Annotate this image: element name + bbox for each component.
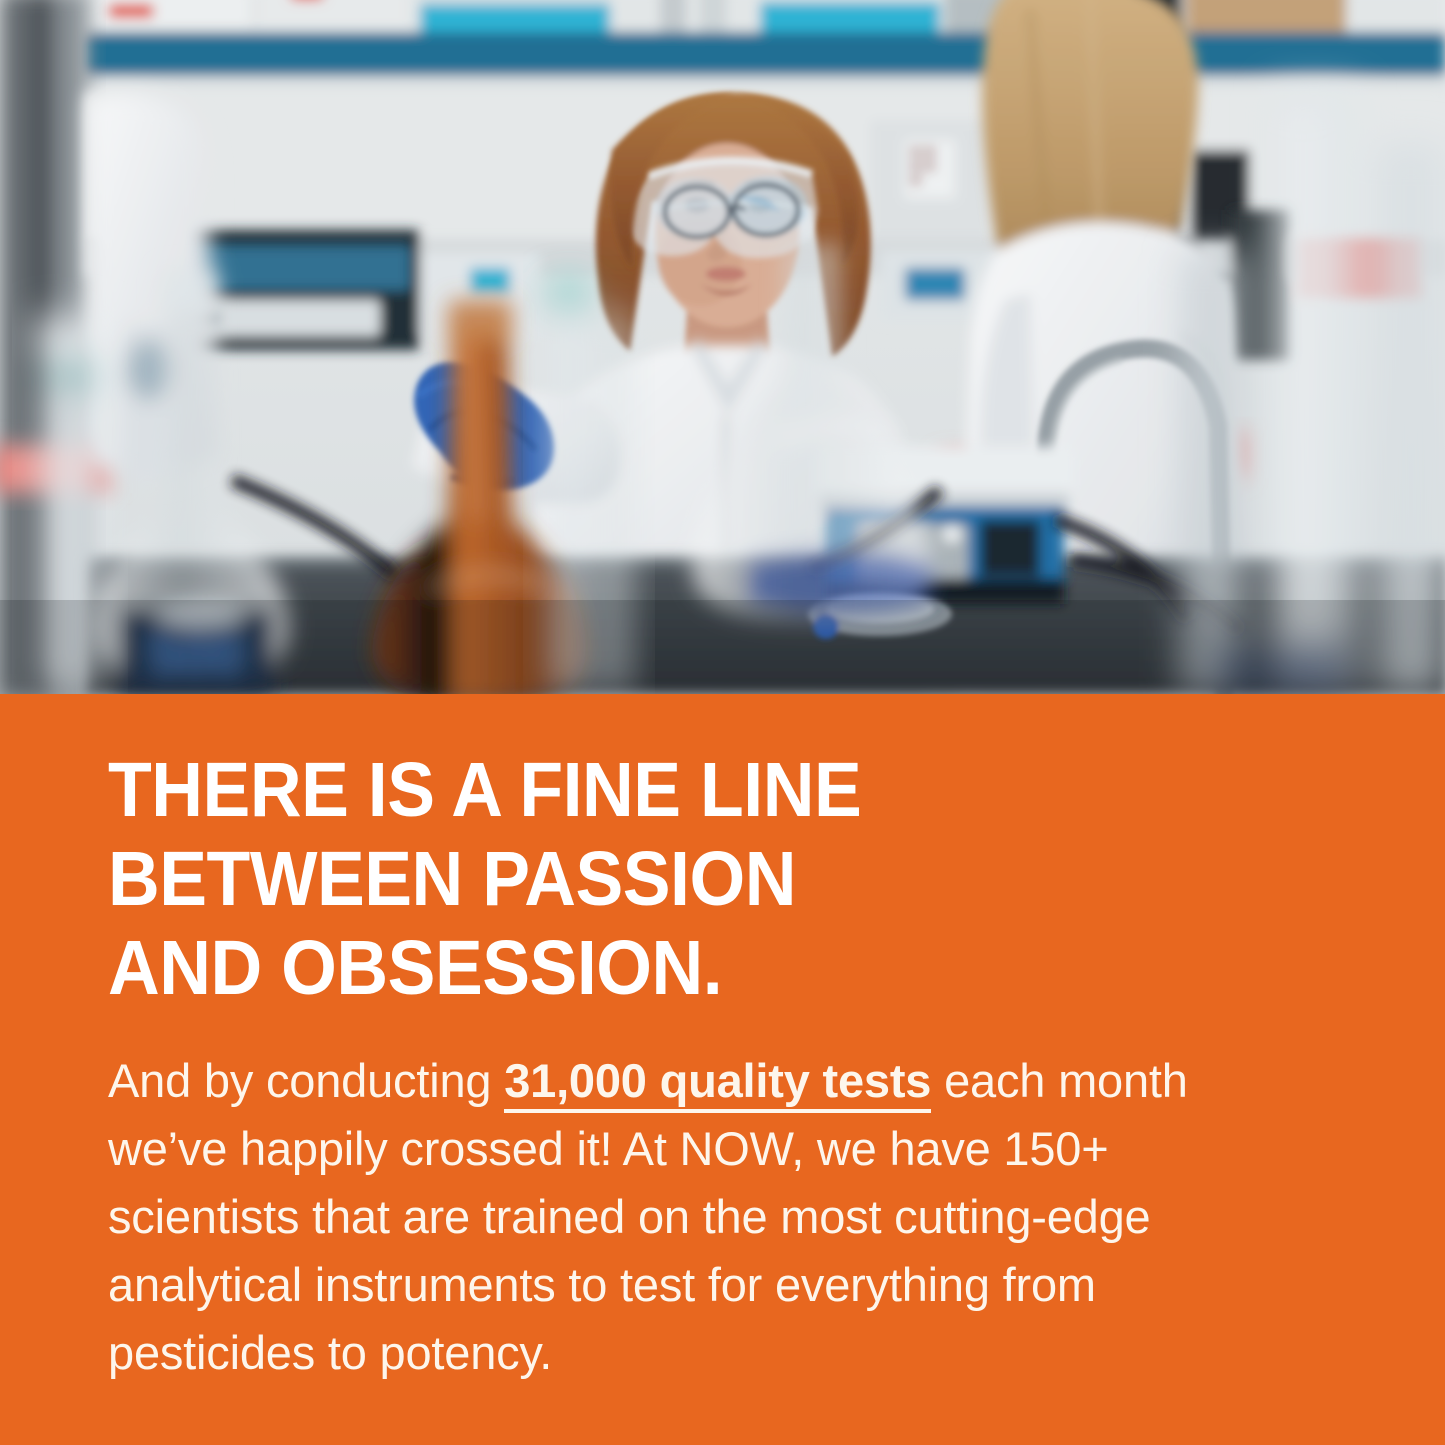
promo-page: 500 xyxy=(0,0,1445,1445)
quality-tests-highlight: 31,000 quality tests xyxy=(504,1054,931,1113)
body-copy-before: And by conducting xyxy=(108,1054,504,1107)
page-headline: THERE IS A FINE LINE BETWEEN PASSION AND… xyxy=(108,746,1251,1013)
lab-scene-illustration: 500 xyxy=(0,0,1445,694)
body-copy: And by conducting 31,000 quality tests e… xyxy=(108,1047,1308,1387)
orange-message-panel: THERE IS A FINE LINE BETWEEN PASSION AND… xyxy=(0,694,1445,1445)
laboratory-scientists-photo: 500 xyxy=(0,0,1445,694)
